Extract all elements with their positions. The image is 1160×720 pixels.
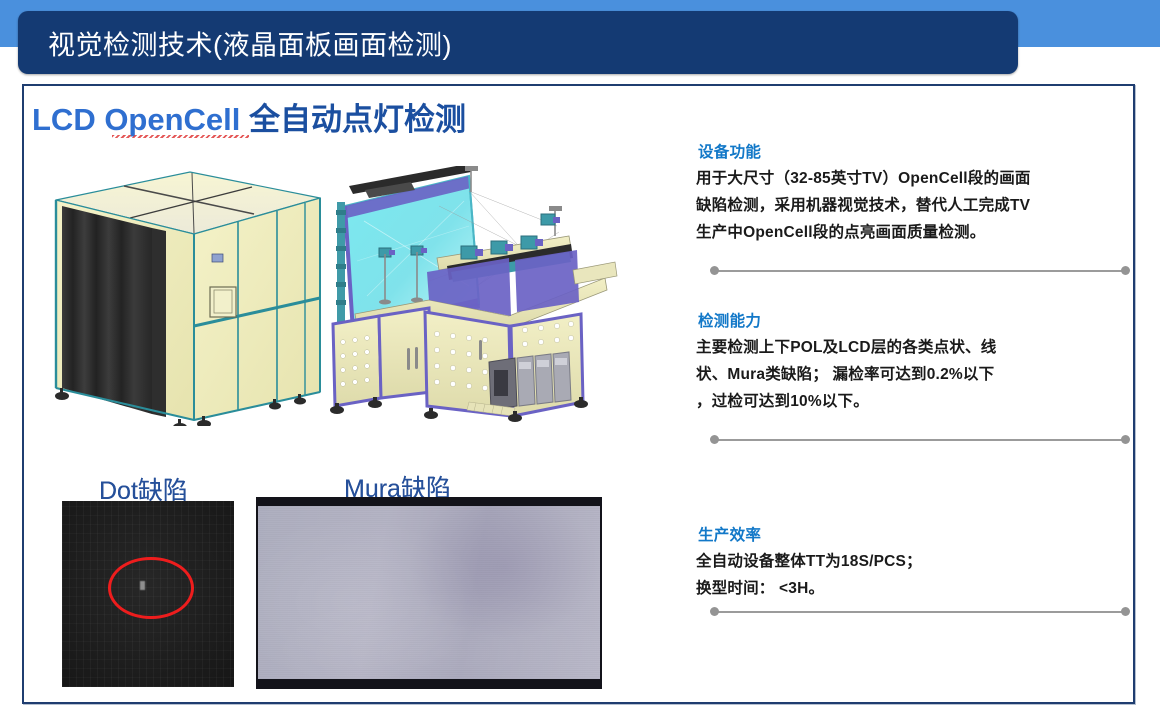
info-heading: 检测能力 [698, 309, 1124, 331]
info-heading: 设备功能 [698, 140, 1124, 162]
divider-line [716, 270, 1124, 272]
enclosure-cabinet-illustration [42, 156, 332, 426]
info-divider [710, 607, 1130, 616]
header-title-box: 视觉检测技术(液晶面板画面检测) [18, 11, 1018, 74]
mura-noise-overlay [258, 506, 600, 679]
info-column: 设备功能 用于大尺寸（32-85英寸TV）OpenCell段的画面 缺陷检测，采… [684, 132, 1124, 692]
divider-dot-left [710, 607, 719, 616]
info-line: 主要检测上下POL及LCD层的各类点状、线 [696, 334, 1124, 361]
info-divider [710, 435, 1130, 444]
info-line: 全自动设备整体TT为18S/PCS； [696, 548, 1124, 575]
page-title: 视觉检测技术(液晶面板画面检测) [48, 23, 452, 62]
divider-dot-right [1121, 435, 1130, 444]
mura-panel-surface [258, 506, 600, 679]
inspection-machine-illustration [319, 166, 619, 426]
divider-dot-right [1121, 607, 1130, 616]
info-line: 生产中OpenCell段的点亮画面质量检测。 [696, 219, 1124, 246]
info-line: 换型时间： <3H。 [696, 575, 1124, 602]
mura-defect-image [256, 497, 602, 689]
divider-dot-left [710, 266, 719, 275]
info-divider [710, 266, 1130, 275]
panel-title-cn: 全自动点灯检测 [249, 102, 466, 137]
info-body: 全自动设备整体TT为18S/PCS； 换型时间： <3H。 [696, 548, 1124, 602]
info-line: 状、Mura类缺陷； 漏检率可达到0.2%以下 [696, 361, 1124, 388]
divider-line [716, 439, 1124, 441]
info-block-equipment-function: 设备功能 用于大尺寸（32-85英寸TV）OpenCell段的画面 缺陷检测，采… [684, 140, 1124, 246]
panel-title: LCD OpenCell 全自动点灯检测 [32, 94, 466, 139]
divider-line [716, 611, 1124, 613]
divider-dot-left [710, 435, 719, 444]
defect-highlight-ellipse [108, 557, 193, 619]
panel-title-en: LCD OpenCell [32, 102, 249, 137]
slide-root: 视觉检测技术(液晶面板画面检测) LCD OpenCell 全自动点灯检测 [0, 0, 1160, 720]
divider-dot-right [1121, 266, 1130, 275]
illustration-area [24, 156, 664, 456]
info-line: ，过检可达到10%以下。 [696, 388, 1124, 415]
info-body: 主要检测上下POL及LCD层的各类点状、线 状、Mura类缺陷； 漏检率可达到0… [696, 334, 1124, 415]
info-line: 用于大尺寸（32-85英寸TV）OpenCell段的画面 [696, 165, 1124, 192]
info-block-production-efficiency: 生产效率 全自动设备整体TT为18S/PCS； 换型时间： <3H。 [684, 523, 1124, 602]
content-panel: LCD OpenCell 全自动点灯检测 [22, 84, 1135, 704]
info-block-detection-capability: 检测能力 主要检测上下POL及LCD层的各类点状、线 状、Mura类缺陷； 漏检… [684, 309, 1124, 415]
info-body: 用于大尺寸（32-85英寸TV）OpenCell段的画面 缺陷检测，采用机器视觉… [696, 165, 1124, 246]
info-heading: 生产效率 [698, 523, 1124, 545]
dot-defect-image [62, 501, 234, 687]
info-line: 缺陷检测，采用机器视觉技术，替代人工完成TV [696, 192, 1124, 219]
